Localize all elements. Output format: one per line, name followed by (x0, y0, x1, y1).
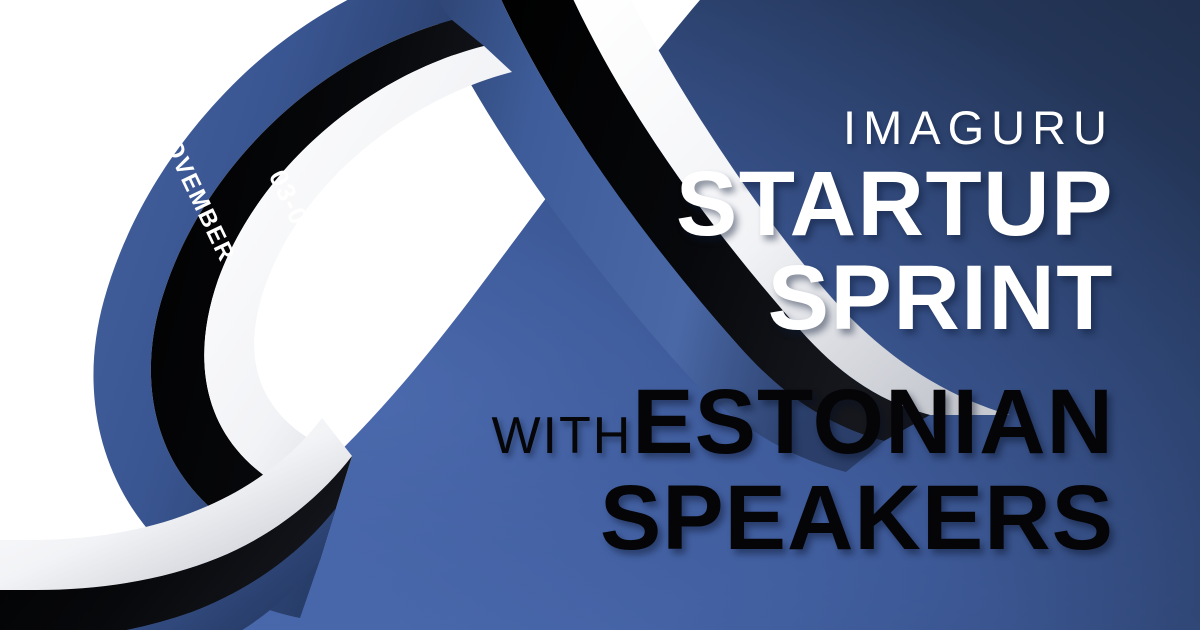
subtitle-word-estonian: ESTONIAN (632, 371, 1114, 473)
subtitle-prefix-with: WITH (491, 407, 632, 465)
subtitle-line-one: WITHESTONIAN (54, 377, 1114, 467)
title-line-startup: STARTUP (54, 159, 1114, 249)
title-line-sprint: SPRINT (54, 253, 1114, 343)
poster-canvas: NOVEMBER 03-04 IMAGURU STARTUP SPRINT WI… (0, 0, 1200, 630)
subtitle-word-speakers: SPEAKERS (600, 467, 1114, 569)
brand-name: IMAGURU (54, 104, 1114, 151)
subtitle-line-two: SPEAKERS (54, 473, 1114, 563)
headline-block: IMAGURU STARTUP SPRINT WITHESTONIAN SPEA… (54, 104, 1114, 564)
